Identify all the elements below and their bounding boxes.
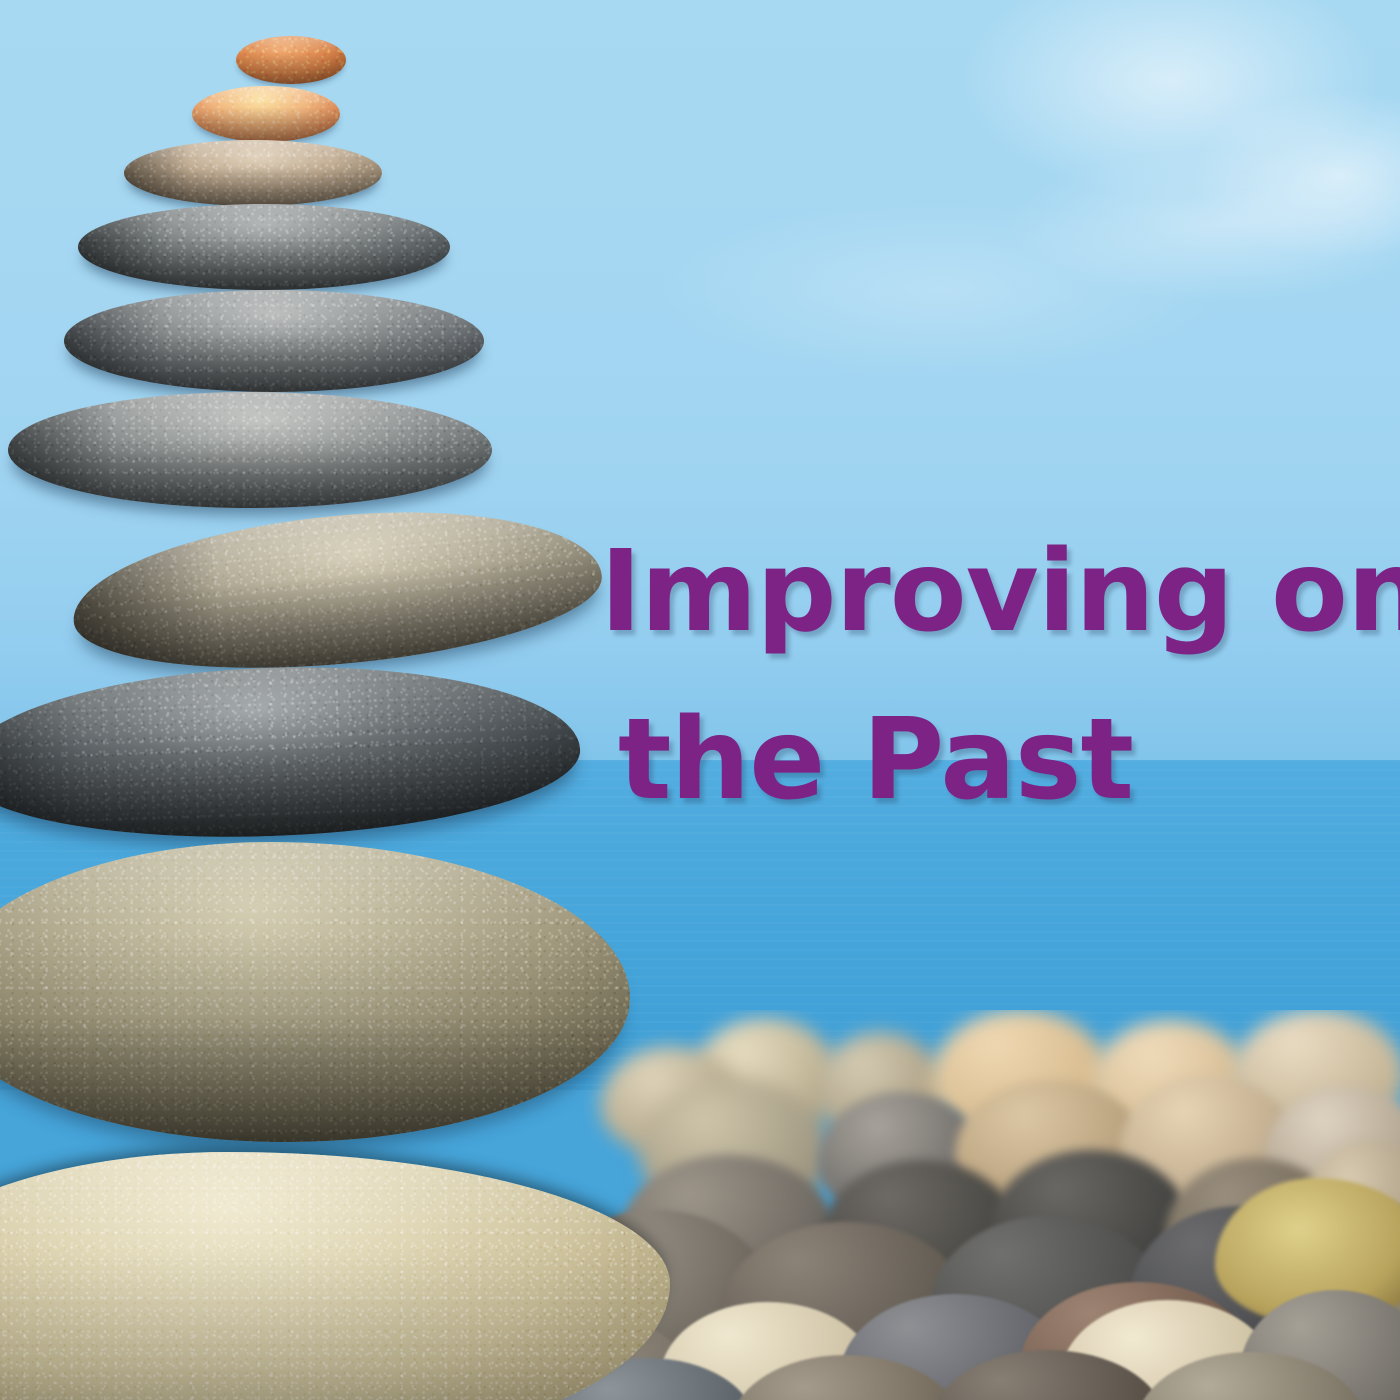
stone-shading — [192, 86, 340, 142]
cairn-stone-4-dark-grey — [78, 204, 450, 290]
stone-shading — [78, 204, 450, 290]
cairn-stone-5-mid-grey — [64, 290, 484, 392]
cairn-stone-3-tan-grey — [124, 140, 382, 206]
stone-shading — [124, 140, 382, 206]
cairn-stone-1-orange — [236, 36, 346, 84]
stone-shading — [64, 290, 484, 392]
cairn-stone-2-peach — [192, 86, 340, 142]
cover-art-canvas: Improving on the Past — [0, 0, 1400, 1400]
title-line-2: the Past — [618, 676, 1380, 844]
stone-shading — [8, 392, 492, 508]
title-line-1: Improving on — [600, 508, 1380, 676]
cover-title: Improving on the Past — [600, 508, 1380, 844]
cairn-stone-6-grey-wide — [8, 392, 492, 508]
stone-shading — [236, 36, 346, 84]
